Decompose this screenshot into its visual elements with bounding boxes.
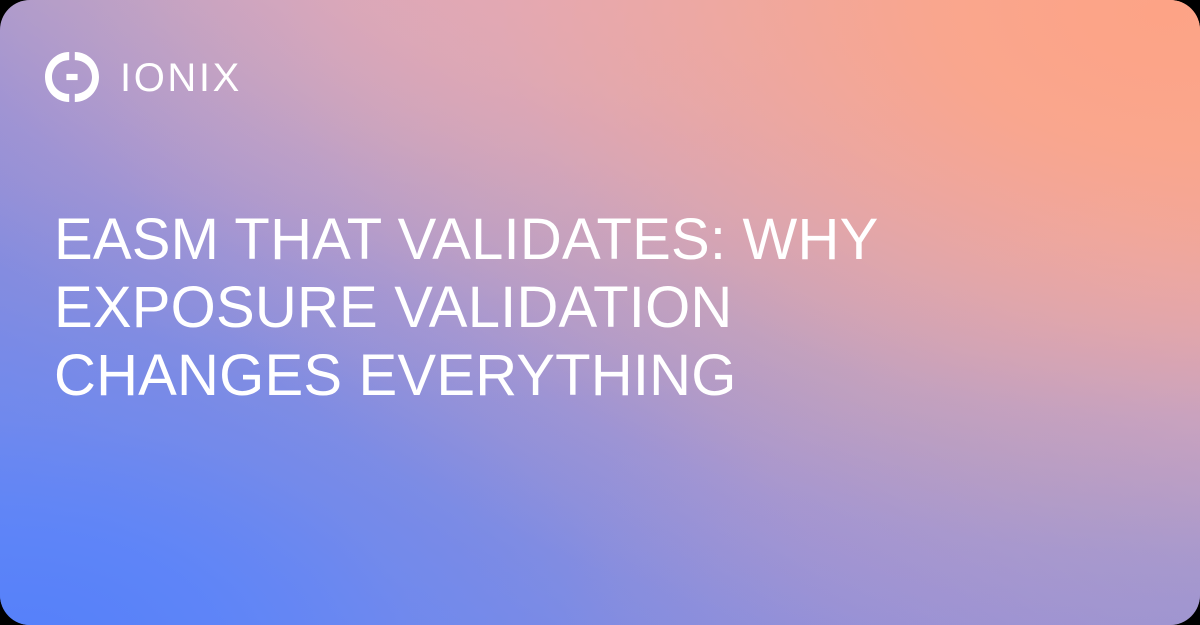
page-title: EASM THAT VALIDATES: WHY EXPOSURE VALIDA… xyxy=(54,206,954,410)
social-share-card: IONIX EASM THAT VALIDATES: WHY EXPOSURE … xyxy=(0,0,1200,625)
brand-logo-lockup[interactable]: IONIX xyxy=(45,52,242,102)
ionix-bowtie-arcs-icon xyxy=(45,52,99,102)
card-content: IONIX EASM THAT VALIDATES: WHY EXPOSURE … xyxy=(0,0,1200,625)
brand-wordmark: IONIX xyxy=(120,58,242,98)
